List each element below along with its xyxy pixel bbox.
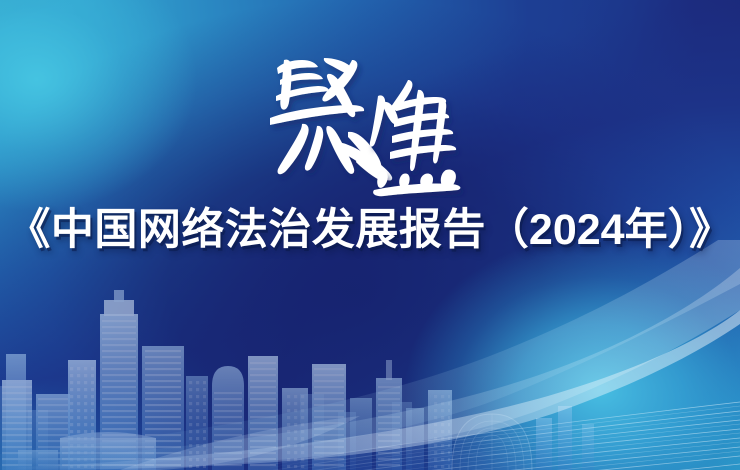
- title-close-bracket: 》: [689, 206, 733, 254]
- title-open-bracket: 《: [7, 206, 51, 254]
- title-year: 2024年: [529, 206, 668, 254]
- title-main-text: 中国网络法治发展报告: [51, 206, 486, 254]
- title-paren-open: （: [486, 206, 529, 254]
- report-title: 《中国网络法治发展报告（2024年）》: [0, 206, 740, 254]
- report-banner: 《中国网络法治发展报告（2024年）》: [0, 0, 740, 470]
- fan-lines-decoration: [270, 340, 740, 470]
- title-paren-close: ）: [668, 206, 690, 254]
- calligraphy-jujiao: [262, 38, 477, 198]
